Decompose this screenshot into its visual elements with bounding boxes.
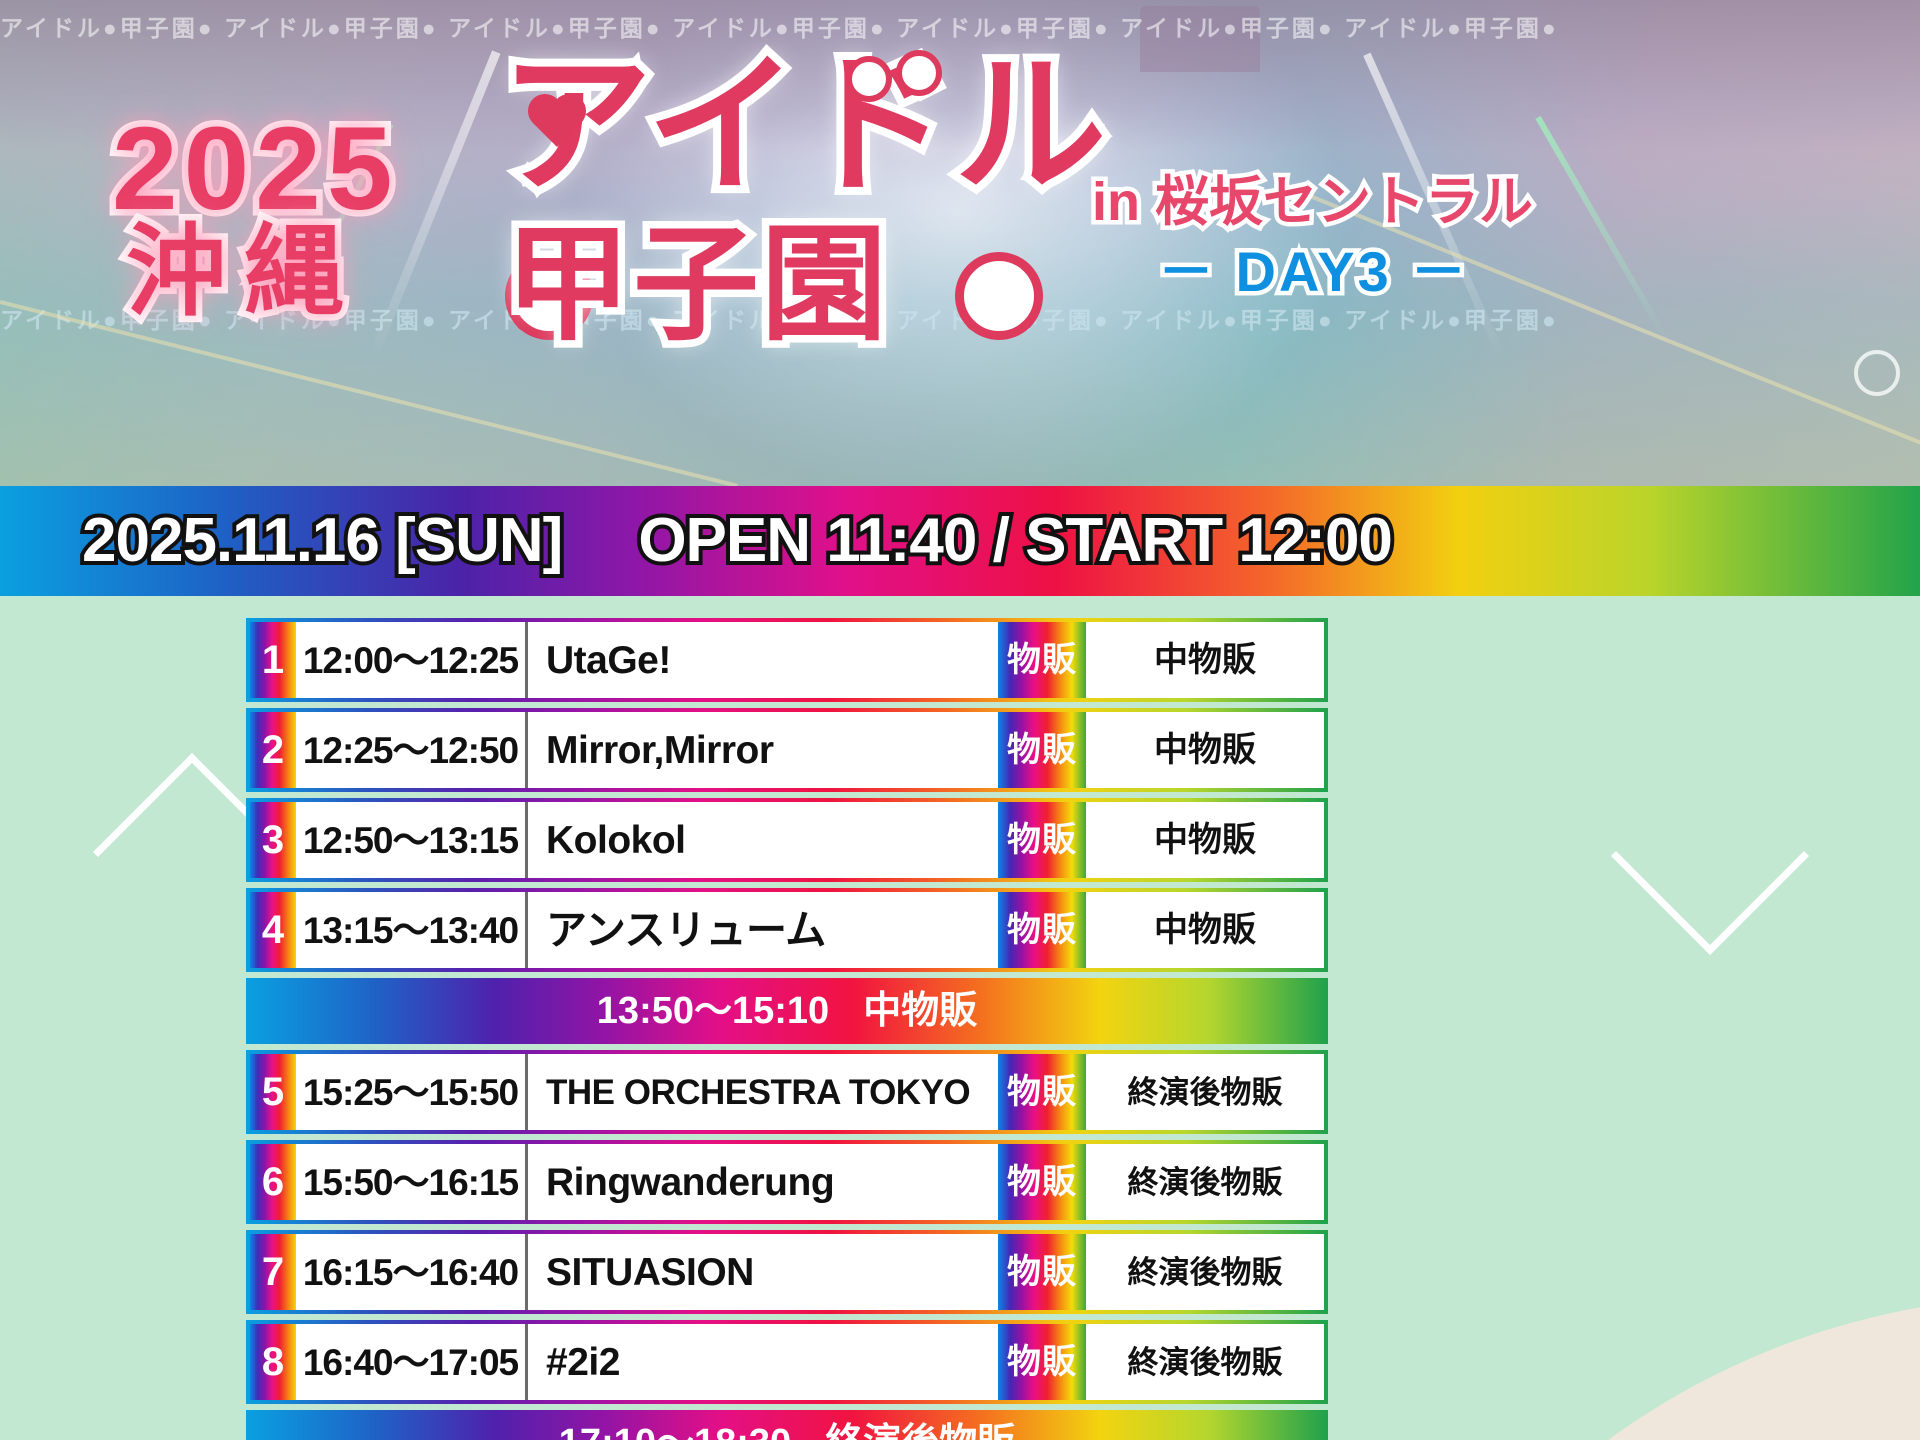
- table-row: 413:15〜13:40アンスリューム物販中物販: [246, 888, 1328, 972]
- table-row-inner: 716:15〜16:40SITUASION物販終演後物販: [250, 1234, 1324, 1310]
- cell-time: 15:25〜15:50: [296, 1054, 528, 1130]
- hero-title-sub: 甲子園: [505, 222, 889, 348]
- cell-time: 12:50〜13:15: [296, 802, 528, 878]
- cell-act: SITUASION: [528, 1234, 998, 1310]
- table-row: 716:15〜16:40SITUASION物販終演後物販: [246, 1230, 1328, 1314]
- table-row-inner: 212:25〜12:50Mirror,Mirror物販中物販: [250, 712, 1324, 788]
- cell-badge: 物販: [998, 1144, 1086, 1220]
- table-row-inner: 112:00〜12:25UtaGe!物販中物販: [250, 622, 1324, 698]
- cell-badge: 物販: [998, 622, 1086, 698]
- table-row: 212:25〜12:50Mirror,Mirror物販中物販: [246, 708, 1328, 792]
- cell-no: 3: [250, 802, 296, 878]
- decorative-circle: [1854, 350, 1900, 396]
- cell-no: 5: [250, 1054, 296, 1130]
- break-row: 17:10〜18:30終演後物販: [246, 1410, 1328, 1440]
- baseball-dakuten-icon: [846, 56, 892, 102]
- hero-day-label: － DAY3 －: [1158, 244, 1469, 300]
- field-chevron-right: [1611, 757, 1809, 955]
- table-row: 816:40〜17:05#2i2物販終演後物販: [246, 1320, 1328, 1404]
- cell-no: 2: [250, 712, 296, 788]
- cell-note: 中物販: [1086, 712, 1324, 788]
- cell-note: 中物販: [1086, 892, 1324, 968]
- cell-no: 8: [250, 1324, 296, 1400]
- table-row-inner: 413:15〜13:40アンスリューム物販中物販: [250, 892, 1324, 968]
- cell-time: 13:15〜13:40: [296, 892, 528, 968]
- cell-no: 6: [250, 1144, 296, 1220]
- cell-note: 終演後物販: [1086, 1054, 1324, 1130]
- hero-region: 沖縄: [126, 222, 362, 322]
- cell-note: 中物販: [1086, 622, 1324, 698]
- hero-year: 2025: [112, 110, 399, 228]
- table-row: 112:00〜12:25UtaGe!物販中物販: [246, 618, 1328, 702]
- table-row-inner: 615:50〜16:15Ringwanderung物販終演後物販: [250, 1144, 1324, 1220]
- hero-title-main: アイドル: [500, 50, 1108, 202]
- cell-note: 終演後物販: [1086, 1144, 1324, 1220]
- cell-no: 7: [250, 1234, 296, 1310]
- cell-badge: 物販: [998, 1324, 1086, 1400]
- break-time: 13:50〜15:10: [597, 992, 829, 1030]
- break-time: 17:10〜18:30: [559, 1424, 791, 1440]
- cell-badge: 物販: [998, 712, 1086, 788]
- baseball-dakuten-icon: [896, 50, 942, 96]
- cell-time: 15:50〜16:15: [296, 1144, 528, 1220]
- event-times: OPEN 11:40 / START 12:00: [638, 510, 1392, 572]
- cell-badge: 物販: [998, 1234, 1086, 1310]
- date-bar: 2025.11.16 [SUN] OPEN 11:40 / START 12:0…: [0, 486, 1920, 596]
- hero-banner: アイドル●甲子園● アイドル●甲子園● アイドル●甲子園● アイドル●甲子園● …: [0, 0, 1920, 486]
- cell-note: 終演後物販: [1086, 1324, 1324, 1400]
- cell-time: 16:15〜16:40: [296, 1234, 528, 1310]
- cell-note: 終演後物販: [1086, 1234, 1324, 1310]
- table-row-inner: 312:50〜13:15Kolokol物販中物販: [250, 802, 1324, 878]
- table-row-inner: 816:40〜17:05#2i2物販終演後物販: [250, 1324, 1324, 1400]
- table-row-inner: 515:25〜15:50THE ORCHESTRA TOKYO物販終演後物販: [250, 1054, 1324, 1130]
- cell-act: Kolokol: [528, 802, 998, 878]
- cell-act: THE ORCHESTRA TOKYO: [528, 1054, 998, 1130]
- cell-act: Ringwanderung: [528, 1144, 998, 1220]
- baseball-icon: [955, 252, 1043, 340]
- table-row: 615:50〜16:15Ringwanderung物販終演後物販: [246, 1140, 1328, 1224]
- cell-no: 4: [250, 892, 296, 968]
- cell-time: 12:00〜12:25: [296, 622, 528, 698]
- cell-act: #2i2: [528, 1324, 998, 1400]
- break-row: 13:50〜15:10中物販: [246, 978, 1328, 1044]
- cell-badge: 物販: [998, 892, 1086, 968]
- break-label: 終演後物販: [825, 1424, 1015, 1440]
- cell-note: 中物販: [1086, 802, 1324, 878]
- cell-no: 1: [250, 622, 296, 698]
- poster-root: アイドル●甲子園● アイドル●甲子園● アイドル●甲子園● アイドル●甲子園● …: [0, 0, 1920, 1440]
- table-row: 312:50〜13:15Kolokol物販中物販: [246, 798, 1328, 882]
- cell-act: UtaGe!: [528, 622, 998, 698]
- cell-badge: 物販: [998, 802, 1086, 878]
- table-row: 515:25〜15:50THE ORCHESTRA TOKYO物販終演後物販: [246, 1050, 1328, 1134]
- hero-venue: in 桜坂セントラル: [1092, 175, 1533, 229]
- infield-dirt-right: [1300, 1296, 1920, 1440]
- cell-time: 16:40〜17:05: [296, 1324, 528, 1400]
- cell-badge: 物販: [998, 1054, 1086, 1130]
- cell-time: 12:25〜12:50: [296, 712, 528, 788]
- cell-act: Mirror,Mirror: [528, 712, 998, 788]
- event-date: 2025.11.16 [SUN]: [82, 510, 562, 572]
- timetable: 112:00〜12:25UtaGe!物販中物販212:25〜12:50Mirro…: [246, 618, 1328, 1440]
- cell-act: アンスリューム: [528, 892, 998, 968]
- break-label: 中物販: [863, 992, 977, 1030]
